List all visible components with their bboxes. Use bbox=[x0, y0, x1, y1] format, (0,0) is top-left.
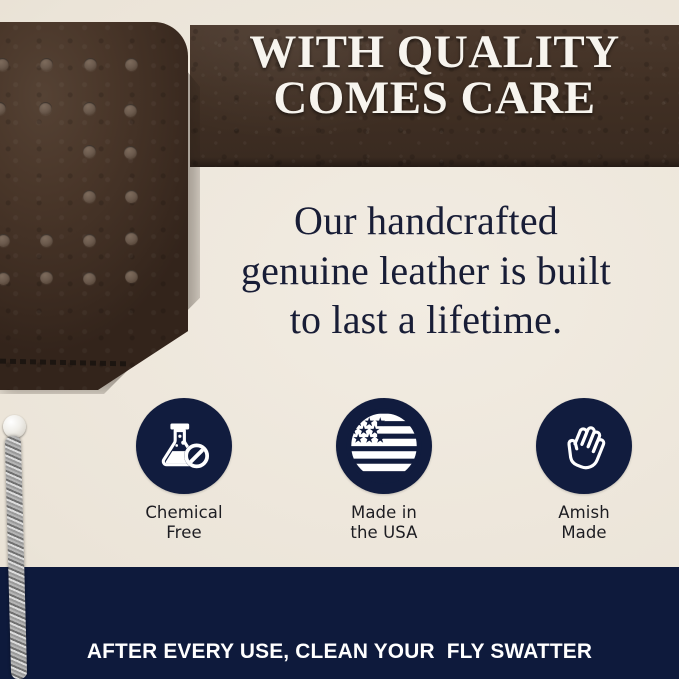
paddle-hole bbox=[40, 234, 53, 247]
paddle-hole bbox=[39, 102, 52, 115]
paddle-hole bbox=[125, 232, 138, 245]
badge-circle bbox=[536, 398, 632, 494]
badge-label-line-1: Amish bbox=[558, 503, 610, 523]
header-title-line-2: COMES CARE bbox=[190, 75, 679, 121]
paddle-hole bbox=[84, 58, 97, 71]
badge-label: Made in the USA bbox=[350, 503, 417, 543]
open-hand-icon bbox=[556, 418, 612, 474]
headline-line-1: Our handcrafted bbox=[186, 196, 666, 246]
paddle-hole bbox=[0, 102, 6, 115]
wire-handle bbox=[5, 436, 27, 679]
paddle-hole bbox=[0, 272, 10, 285]
paddle-hole bbox=[125, 58, 138, 71]
badge-made-in-usa: Made in the USA bbox=[304, 398, 464, 543]
headline-line-3: to last a lifetime. bbox=[186, 295, 666, 345]
paddle-hole bbox=[0, 58, 9, 71]
badge-circle bbox=[336, 398, 432, 494]
header-title-line-1: WITH QUALITY bbox=[249, 26, 619, 78]
paddle-hole bbox=[83, 145, 96, 158]
headline-line-2: genuine leather is built bbox=[186, 246, 666, 296]
badge-label: Amish Made bbox=[558, 503, 610, 543]
infographic-canvas: WITH QUALITY COMES CARE Our handcrafted … bbox=[0, 0, 679, 679]
badge-amish-made: Amish Made bbox=[504, 398, 664, 543]
paddle-hole bbox=[125, 190, 138, 203]
paddle-hole bbox=[83, 102, 96, 115]
paddle-hole bbox=[124, 146, 137, 159]
paddle-hole bbox=[40, 58, 53, 71]
paddle-hole bbox=[0, 234, 10, 247]
paddle-hole bbox=[83, 234, 96, 247]
paddle-hole bbox=[83, 190, 96, 203]
paddle-hole bbox=[124, 104, 137, 117]
badge-label-line-2: Made bbox=[558, 523, 610, 543]
paddle-hole-grid bbox=[0, 22, 188, 390]
paddle-hole bbox=[40, 271, 53, 284]
headline: Our handcrafted genuine leather is built… bbox=[186, 196, 666, 345]
usa-flag-icon bbox=[340, 402, 428, 490]
paddle-hole bbox=[83, 272, 96, 285]
header-title: WITH QUALITY COMES CARE bbox=[190, 29, 679, 121]
handle-rivet bbox=[3, 415, 26, 438]
paddle-hole bbox=[125, 270, 138, 283]
badge-label-line-1: Made in bbox=[350, 503, 417, 523]
badge-label-line-2: the USA bbox=[350, 523, 417, 543]
leather-fly-swatter-image bbox=[0, 0, 230, 679]
header-band: WITH QUALITY COMES CARE bbox=[190, 25, 679, 167]
